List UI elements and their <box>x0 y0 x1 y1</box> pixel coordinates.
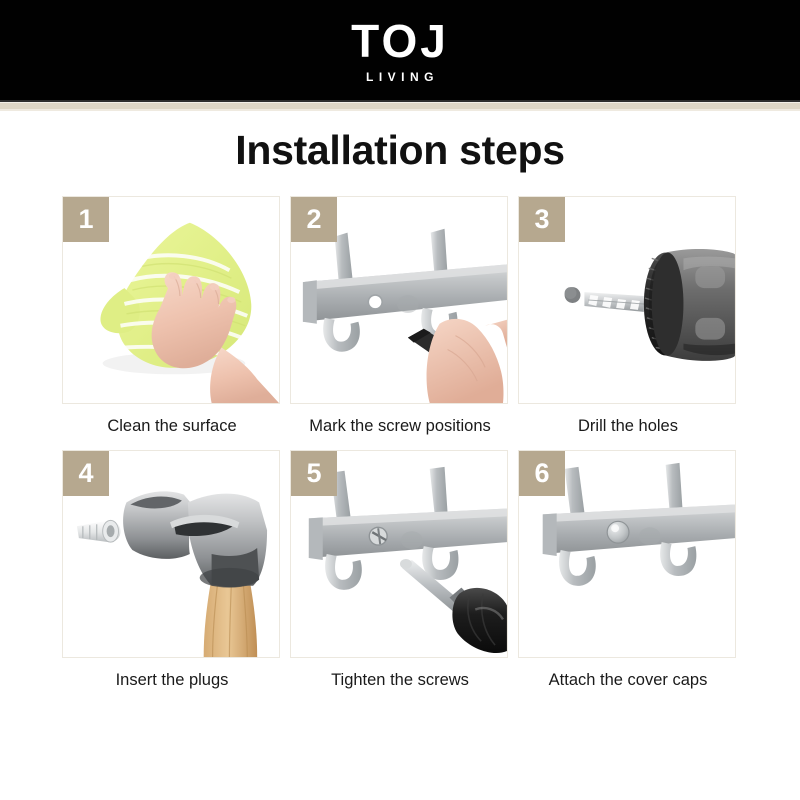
step-card: 4 <box>62 450 280 658</box>
step-card: 1 <box>62 196 280 404</box>
brand-logo: TOJ <box>351 18 449 64</box>
step-item: 6 <box>518 450 738 692</box>
step-item: 3 <box>518 196 738 438</box>
step-card: 5 <box>290 450 508 658</box>
step-item: 2 <box>290 196 510 438</box>
step-number-badge: 4 <box>63 451 109 496</box>
installation-steps-grid: 1 <box>62 196 738 692</box>
step-caption: Mark the screw positions <box>290 416 510 438</box>
brand-tagline: LIVING <box>361 71 439 83</box>
step-item: 5 <box>290 450 510 692</box>
step-item: 4 <box>62 450 282 692</box>
site-header: TOJ LIVING <box>0 0 800 100</box>
step-caption: Attach the cover caps <box>518 670 738 692</box>
step-number-badge: 1 <box>63 197 109 242</box>
step-number-badge: 2 <box>291 197 337 242</box>
step-caption: Tighten the screws <box>290 670 510 692</box>
step-number-badge: 5 <box>291 451 337 496</box>
step-caption: Drill the holes <box>518 416 738 438</box>
page-title: Installation steps <box>0 127 800 174</box>
step-number-badge: 6 <box>519 451 565 496</box>
step-card: 2 <box>290 196 508 404</box>
step-card: 6 <box>518 450 736 658</box>
step-caption: Insert the plugs <box>62 670 282 692</box>
step-number-badge: 3 <box>519 197 565 242</box>
header-band-shadow <box>0 109 800 111</box>
step-item: 1 <box>62 196 282 438</box>
step-card: 3 <box>518 196 736 404</box>
step-caption: Clean the surface <box>62 416 282 438</box>
